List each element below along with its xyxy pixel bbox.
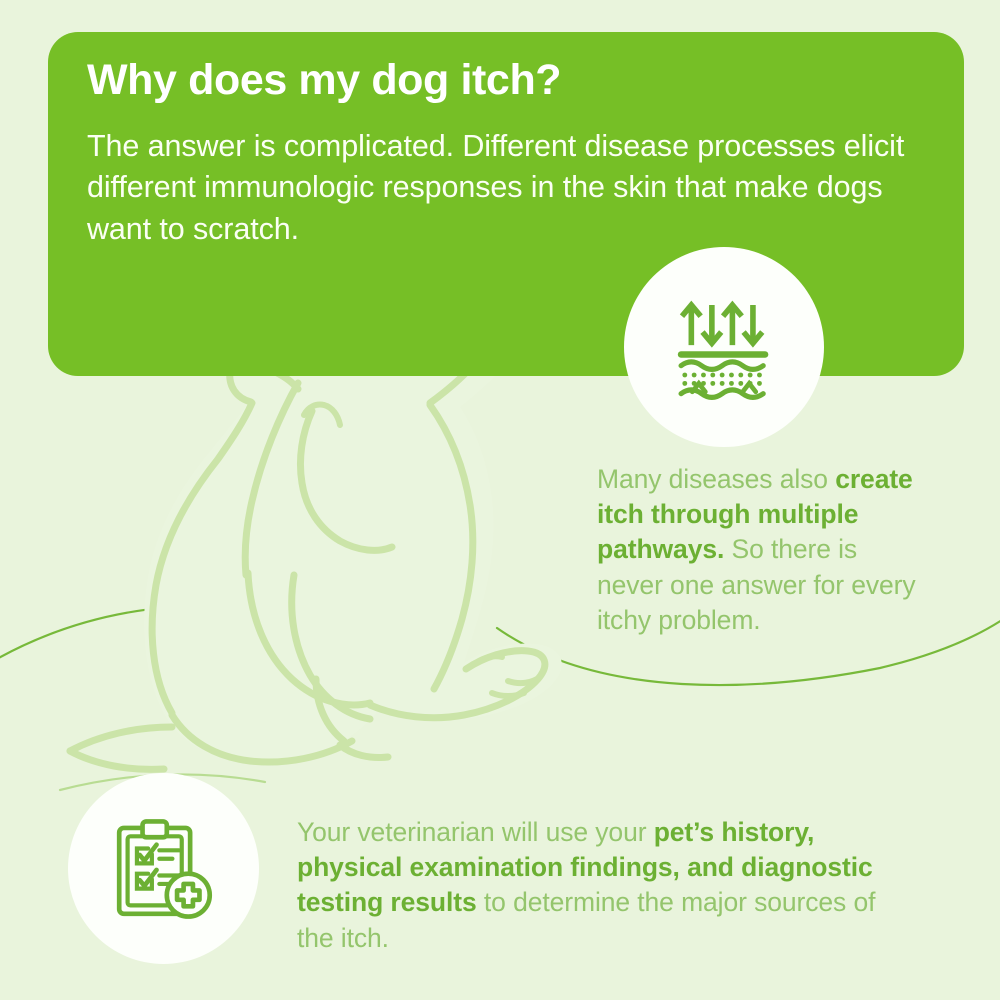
skin-barrier-arrows-icon (668, 291, 780, 403)
header-body-text: The answer is complicated. Different dis… (87, 126, 949, 250)
callout-run-0: Your veterinarian will use your (297, 817, 654, 847)
page-title: Why does my dog itch? (87, 58, 907, 103)
callout-multiple-pathways: Many diseases also create itch through m… (597, 462, 927, 638)
skin-icon-circle (624, 247, 824, 447)
callout-run-0: Many diseases also (597, 464, 835, 494)
clipboard-checklist-medical-icon (108, 813, 220, 925)
clipboard-icon-circle (68, 773, 259, 964)
header-panel: Why does my dog itch? The answer is comp… (48, 32, 964, 376)
callout-veterinarian-diagnosis: Your veterinarian will use your pet’s hi… (297, 815, 907, 956)
infographic-canvas: Why does my dog itch? The answer is comp… (0, 0, 1000, 1000)
